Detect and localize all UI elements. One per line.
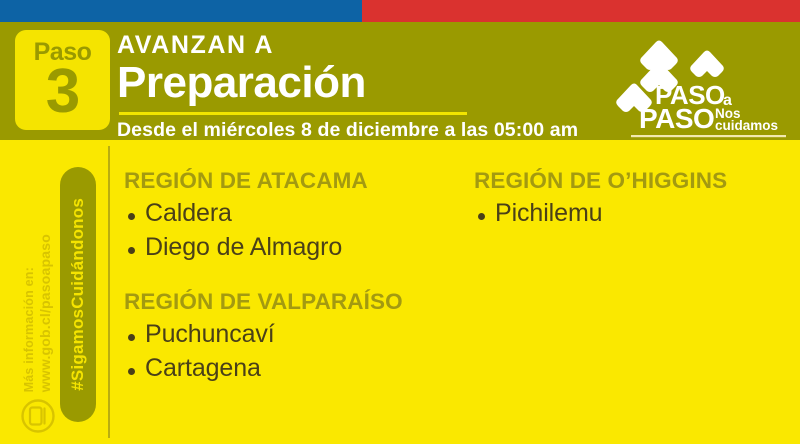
gob-circle-icon	[20, 398, 56, 434]
list-item: Pichilemu	[474, 196, 794, 231]
step-badge-number: 3	[46, 61, 79, 123]
list-item: Caldera	[124, 196, 474, 231]
svg-text:PASO: PASO	[639, 103, 714, 134]
regions-column-right: REGIÓN DE O’HIGGINS Pichilemu	[474, 168, 794, 386]
left-info-rail: Más información en: www.gob.cl/pasoapaso…	[0, 140, 110, 444]
header-date-line: Desde el miércoles 8 de diciembre a las …	[117, 120, 677, 141]
city-list-atacama: Caldera Diego de Almagro	[124, 196, 474, 265]
list-item: Puchuncaví	[124, 317, 474, 352]
rail-info-label: Más información en:	[22, 267, 38, 392]
flag-blue-segment	[0, 0, 362, 22]
header-eyebrow: AVANZAN A	[117, 32, 677, 58]
hashtag-label: #SigamosCuidándonos	[68, 198, 88, 391]
header-band: Paso 3 AVANZAN A Preparación Desde el mi…	[0, 22, 800, 140]
city-list-ohiggins: Pichilemu	[474, 196, 794, 231]
step-badge: Paso 3	[15, 30, 110, 130]
rail-divider-line	[108, 146, 110, 438]
hashtag-pill: #SigamosCuidándonos	[60, 167, 96, 422]
region-title-ohiggins: REGIÓN DE O’HIGGINS	[474, 168, 794, 194]
header-text-block: AVANZAN A Preparación Desde el miércoles…	[117, 32, 677, 142]
svg-text:cuidamos: cuidamos	[715, 118, 778, 133]
paso-a-paso-announcement-card: Paso 3 AVANZAN A Preparación Desde el mi…	[0, 0, 800, 444]
flag-red-segment	[362, 0, 800, 22]
paso-a-paso-logo: PASO a PASO Nos cuidamos	[615, 30, 790, 138]
regions-content: REGIÓN DE ATACAMA Caldera Diego de Almag…	[124, 168, 790, 386]
regions-column-left: REGIÓN DE ATACAMA Caldera Diego de Almag…	[124, 168, 474, 386]
region-title-valparaiso: REGIÓN DE VALPARAÍSO	[124, 289, 474, 315]
flag-color-strip	[0, 0, 800, 22]
list-item: Diego de Almagro	[124, 230, 474, 265]
rail-url-link[interactable]: www.gob.cl/pasoapaso	[37, 234, 53, 392]
header-divider-rule	[119, 112, 467, 115]
list-item: Cartagena	[124, 351, 474, 386]
city-list-valparaiso: Puchuncaví Cartagena	[124, 317, 474, 386]
page-title: Preparación	[117, 60, 677, 106]
region-title-atacama: REGIÓN DE ATACAMA	[124, 168, 474, 194]
